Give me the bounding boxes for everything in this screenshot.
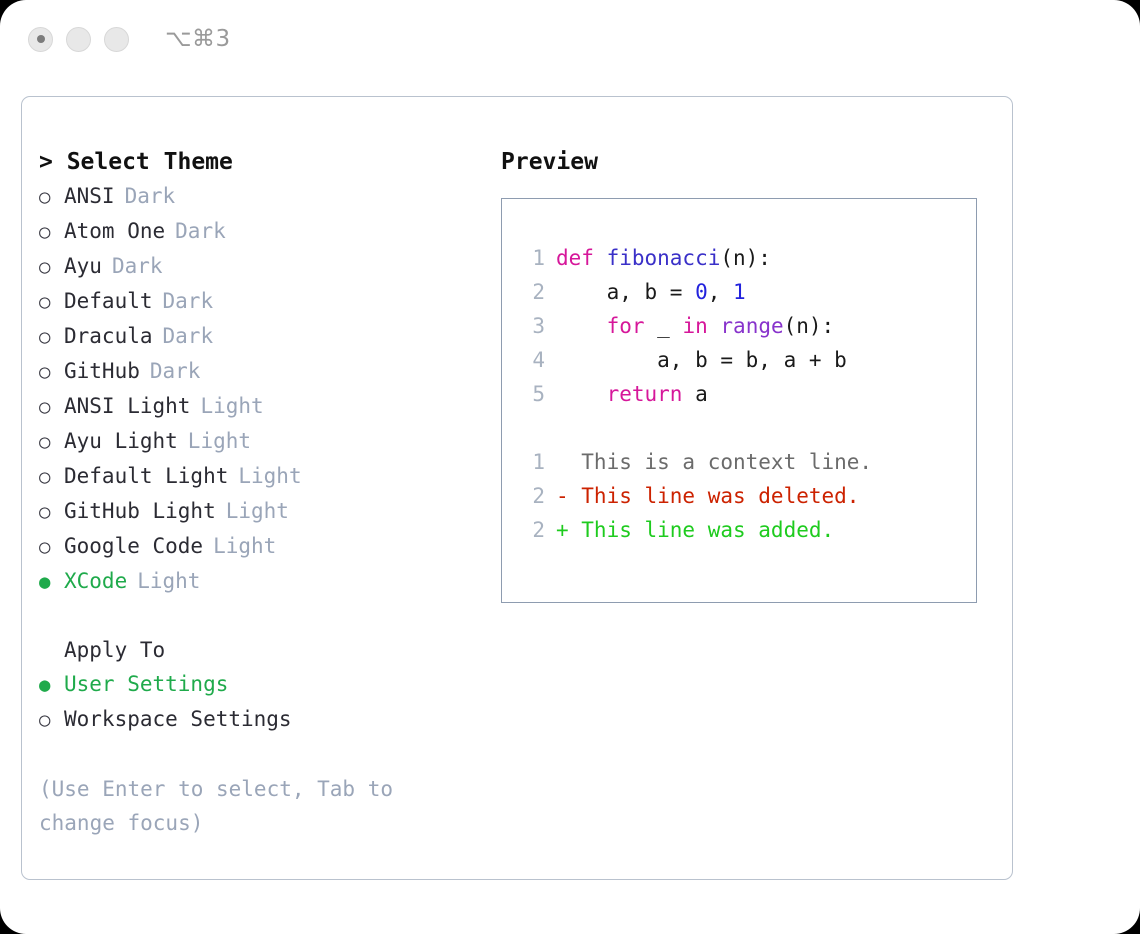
line-number: 2: [519, 479, 545, 513]
card-content: > Select Theme ○ANSIDark○Atom OneDark○Ay…: [22, 97, 1012, 879]
line-number: 2: [519, 275, 545, 309]
radio-unselected-icon: ○: [39, 530, 64, 564]
radio-unselected-icon: ○: [39, 285, 64, 319]
token-kw: in: [682, 314, 707, 338]
token-pl: a, b =: [556, 280, 695, 304]
theme-variant: Light: [226, 494, 289, 528]
token-pl: a: [682, 382, 707, 406]
code-preview-panel: 1def fibonacci(n):2 a, b = 0, 13 for _ i…: [501, 198, 977, 603]
theme-list[interactable]: ○ANSIDark○Atom OneDark○AyuDark○DefaultDa…: [39, 179, 499, 599]
code-text: for _ in range(n):: [556, 309, 834, 343]
token-pl: [556, 382, 607, 406]
theme-name: GitHub: [64, 354, 140, 388]
code-line: 3 for _ in range(n):: [519, 309, 976, 343]
main-card: > Select Theme ○ANSIDark○Atom OneDark○Ay…: [21, 96, 1013, 880]
theme-variant: Dark: [150, 354, 201, 388]
token-num: 1: [733, 280, 746, 304]
radio-unselected-icon: ○: [39, 355, 64, 389]
apply-to-option-workspace-settings[interactable]: ○Workspace Settings: [39, 702, 499, 737]
window-dot-active[interactable]: [28, 27, 53, 52]
theme-variant: Light: [200, 389, 263, 423]
token-kw: return: [607, 382, 683, 406]
theme-variant: Dark: [125, 179, 176, 213]
apply-to-label: Workspace Settings: [64, 702, 292, 736]
token-pl: [708, 314, 721, 338]
radio-unselected-icon: ○: [39, 703, 64, 737]
code-line: 4 a, b = b, a + b: [519, 343, 976, 377]
theme-name: Default Light: [64, 459, 228, 493]
theme-option-github[interactable]: ○GitHubDark: [39, 354, 499, 389]
theme-name: Default: [64, 284, 153, 318]
code-spacer: [519, 411, 976, 445]
line-number: 1: [519, 241, 545, 275]
apply-to-label: User Settings: [64, 667, 228, 701]
theme-selector-pane: > Select Theme ○ANSIDark○Atom OneDark○Ay…: [39, 145, 499, 840]
theme-option-ayu[interactable]: ○AyuDark: [39, 249, 499, 284]
theme-name: ANSI Light: [64, 389, 190, 423]
theme-name: ANSI: [64, 179, 115, 213]
radio-unselected-icon: ○: [39, 460, 64, 494]
terminal-window: ⌥⌘3 > Select Theme ○ANSIDark○Atom OneDar…: [0, 0, 1140, 934]
preview-pane: Preview 1def fibonacci(n):2 a, b = 0, 13…: [501, 145, 1001, 603]
title-bar: ⌥⌘3: [0, 0, 1140, 78]
code-text: a, b = b, a + b: [556, 343, 847, 377]
theme-variant: Dark: [112, 249, 163, 283]
token-add: + This line was added.: [556, 518, 834, 542]
apply-to-section: Apply To ●User Settings○Workspace Settin…: [39, 633, 499, 737]
theme-variant: Light: [238, 459, 301, 493]
radio-unselected-icon: ○: [39, 390, 64, 424]
diff-text: This is a context line.: [556, 445, 872, 479]
line-number: 4: [519, 343, 545, 377]
window-dot-second[interactable]: [66, 27, 91, 52]
code-line: 2 a, b = 0, 1: [519, 275, 976, 309]
code-text: return a: [556, 377, 708, 411]
code-line: 5 return a: [519, 377, 976, 411]
theme-name: Dracula: [64, 319, 153, 353]
token-num: 0: [695, 280, 708, 304]
theme-option-github-light[interactable]: ○GitHub LightLight: [39, 494, 499, 529]
radio-unselected-icon: ○: [39, 425, 64, 459]
radio-selected-icon: ●: [39, 668, 64, 702]
token-kw: def: [556, 246, 607, 270]
radio-selected-icon: ●: [39, 565, 64, 599]
theme-option-dracula[interactable]: ○DraculaDark: [39, 319, 499, 354]
theme-option-default-light[interactable]: ○Default LightLight: [39, 459, 499, 494]
window-dot-third[interactable]: [104, 27, 129, 52]
theme-variant: Dark: [163, 319, 214, 353]
app-root: ⌥⌘3 > Select Theme ○ANSIDark○Atom OneDar…: [0, 0, 1140, 934]
apply-to-title: Apply To: [39, 633, 499, 667]
token-pl: [556, 314, 607, 338]
radio-unselected-icon: ○: [39, 495, 64, 529]
diff-line: 2+ This line was added.: [519, 513, 976, 547]
token-pl: a, b = b, a + b: [556, 348, 847, 372]
line-number: 1: [519, 445, 545, 479]
apply-to-option-user-settings[interactable]: ●User Settings: [39, 667, 499, 702]
theme-name: Google Code: [64, 529, 203, 563]
theme-variant: Light: [213, 529, 276, 563]
theme-variant: Dark: [163, 284, 214, 318]
line-number: 5: [519, 377, 545, 411]
keyboard-shortcut-label: ⌥⌘3: [165, 26, 231, 52]
token-pl: (n):: [784, 314, 835, 338]
theme-option-google-code[interactable]: ○Google CodeLight: [39, 529, 499, 564]
token-ctx: This is a context line.: [556, 450, 872, 474]
token-bi: range: [720, 314, 783, 338]
keyboard-hint-text: (Use Enter to select, Tab to change focu…: [39, 772, 439, 840]
diff-sample: 1 This is a context line.2- This line wa…: [519, 445, 976, 547]
code-text: a, b = 0, 1: [556, 275, 746, 309]
theme-name: Ayu: [64, 249, 102, 283]
theme-option-atom-one[interactable]: ○Atom OneDark: [39, 214, 499, 249]
apply-to-options[interactable]: ●User Settings○Workspace Settings: [39, 667, 499, 737]
theme-variant: Light: [137, 564, 200, 598]
diff-line: 1 This is a context line.: [519, 445, 976, 479]
theme-variant: Dark: [175, 214, 226, 248]
radio-unselected-icon: ○: [39, 180, 64, 214]
window-dot-active-inner: [37, 35, 45, 43]
radio-unselected-icon: ○: [39, 215, 64, 249]
token-del: - This line was deleted.: [556, 484, 859, 508]
code-line: 1def fibonacci(n):: [519, 241, 976, 275]
theme-option-ansi[interactable]: ○ANSIDark: [39, 179, 499, 214]
line-number: 3: [519, 309, 545, 343]
theme-name: GitHub Light: [64, 494, 216, 528]
token-pl: ,: [708, 280, 733, 304]
radio-unselected-icon: ○: [39, 320, 64, 354]
theme-name: XCode: [64, 564, 127, 598]
radio-unselected-icon: ○: [39, 250, 64, 284]
diff-text: - This line was deleted.: [556, 479, 859, 513]
theme-option-xcode[interactable]: ●XCodeLight: [39, 564, 499, 599]
theme-name: Atom One: [64, 214, 165, 248]
theme-variant: Light: [188, 424, 251, 458]
code-sample: 1def fibonacci(n):2 a, b = 0, 13 for _ i…: [519, 241, 976, 411]
preview-title: Preview: [501, 145, 1001, 179]
token-pl: (n):: [720, 246, 771, 270]
token-fn: fibonacci: [607, 246, 721, 270]
theme-name: Ayu Light: [64, 424, 178, 458]
diff-line: 2- This line was deleted.: [519, 479, 976, 513]
token-pl: _: [645, 314, 683, 338]
diff-text: + This line was added.: [556, 513, 834, 547]
code-text: def fibonacci(n):: [556, 241, 771, 275]
line-number: 2: [519, 513, 545, 547]
theme-option-default[interactable]: ○DefaultDark: [39, 284, 499, 319]
window-control-dots: [28, 27, 129, 52]
token-kw: for: [607, 314, 645, 338]
select-theme-header: > Select Theme: [39, 145, 499, 179]
theme-option-ansi-light[interactable]: ○ANSI LightLight: [39, 389, 499, 424]
theme-option-ayu-light[interactable]: ○Ayu LightLight: [39, 424, 499, 459]
